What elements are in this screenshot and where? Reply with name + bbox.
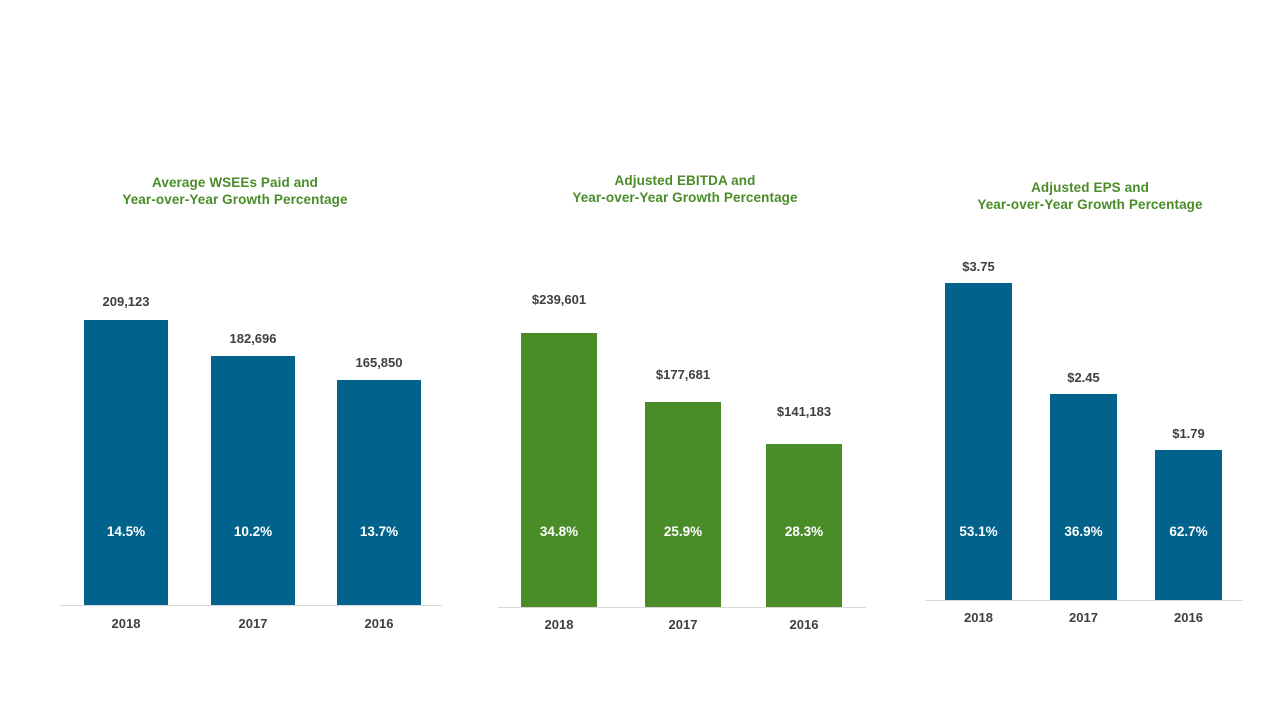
x-axis-category-label-2017: 2017 xyxy=(618,617,748,632)
x-axis-category-label-2017: 2017 xyxy=(188,616,318,631)
x-axis-category-label-2016: 2016 xyxy=(739,617,869,632)
bar-average-wsees-paid-2017[interactable] xyxy=(211,356,295,605)
x-axis-category-label-2016: 2016 xyxy=(314,616,444,631)
bar-value-label: $141,183 xyxy=(739,404,869,419)
bar-adjusted-eps-2018[interactable] xyxy=(945,283,1012,600)
bar-value-label: $2.45 xyxy=(1019,370,1149,385)
bar-adjusted-ebitda-2017[interactable] xyxy=(645,402,721,607)
bar-adjusted-ebitda-2018[interactable] xyxy=(521,333,597,607)
bar-value-label: $239,601 xyxy=(494,292,624,307)
bar-value-label: $1.79 xyxy=(1124,426,1254,441)
bar-value-label: 182,696 xyxy=(188,331,318,346)
bar-growth-percentage-label: 25.9% xyxy=(618,524,748,539)
bar-growth-percentage-label: 62.7% xyxy=(1124,524,1254,539)
bar-growth-percentage-label: 14.5% xyxy=(61,524,191,539)
bar-value-label: $3.75 xyxy=(914,259,1044,274)
bar-average-wsees-paid-2018[interactable] xyxy=(84,320,168,605)
bar-charts-page: { "page": { "background_color": "#ffffff… xyxy=(0,0,1280,720)
chart-title: Average WSEEs Paid and Year-over-Year Gr… xyxy=(0,174,470,208)
x-axis-category-label-2018: 2018 xyxy=(494,617,624,632)
bar-value-label: 165,850 xyxy=(314,355,444,370)
x-axis-category-label-2018: 2018 xyxy=(61,616,191,631)
bar-growth-percentage-label: 13.7% xyxy=(314,524,444,539)
chart-title: Adjusted EBITDA and Year-over-Year Growt… xyxy=(470,172,900,206)
bar-value-label: 209,123 xyxy=(61,294,191,309)
chart-title: Adjusted EPS and Year-over-Year Growth P… xyxy=(900,179,1280,213)
bar-value-label: $177,681 xyxy=(618,367,748,382)
bar-average-wsees-paid-2016[interactable] xyxy=(337,380,421,605)
x-axis-line xyxy=(925,600,1243,601)
bar-growth-percentage-label: 34.8% xyxy=(494,524,624,539)
bar-growth-percentage-label: 10.2% xyxy=(188,524,318,539)
x-axis-line xyxy=(60,605,442,606)
bar-growth-percentage-label: 28.3% xyxy=(739,524,869,539)
bar-adjusted-eps-2017[interactable] xyxy=(1050,394,1117,600)
x-axis-category-label-2016: 2016 xyxy=(1124,610,1254,625)
x-axis-line xyxy=(498,607,866,608)
